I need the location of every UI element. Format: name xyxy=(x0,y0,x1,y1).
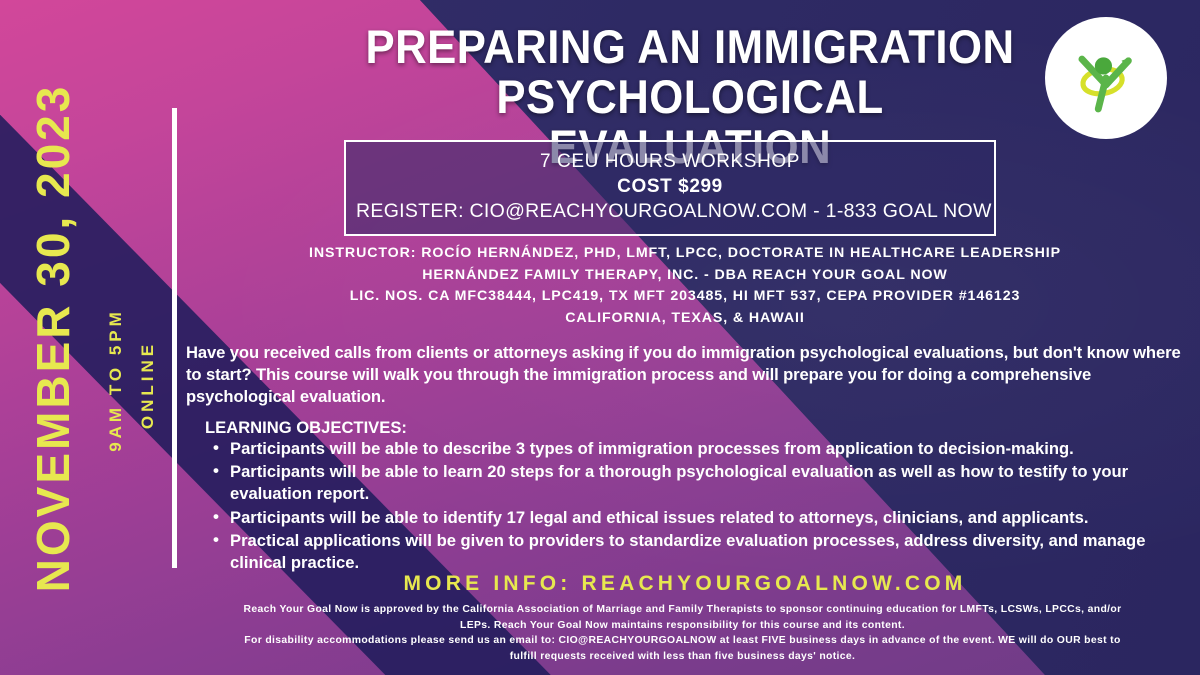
instructor-block: INSTRUCTOR: ROCÍO HERNÁNDEZ, PHD, LMFT, … xyxy=(180,243,1190,329)
instructor-practice: HERNÁNDEZ FAMILY THERAPY, INC. - DBA REA… xyxy=(180,265,1190,287)
instructor-name-credentials: INSTRUCTOR: ROCÍO HERNÁNDEZ, PHD, LMFT, … xyxy=(180,243,1190,265)
vertical-divider-line xyxy=(172,108,177,568)
event-date: NOVEMBER 30, 2023 xyxy=(26,83,80,592)
event-time: 9AM TO 5PM xyxy=(106,308,126,452)
footer-line-4: fulfill requests received with less than… xyxy=(170,649,1195,665)
footer-line-1: Reach Your Goal Now is approved by the C… xyxy=(170,602,1195,618)
list-item: Participants will be able to describe 3 … xyxy=(210,438,1186,460)
footer-line-2: LEPs. Reach Your Goal Now maintains resp… xyxy=(170,618,1195,634)
event-modality-container: ONLINE xyxy=(128,255,168,515)
registration-info-box: 7 CEU HOURS WORKSHOP COST $299 REGISTER:… xyxy=(344,140,996,236)
title-line-1: PREPARING AN IMMIGRATION xyxy=(365,22,1016,72)
left-rail: NOVEMBER 30, 2023 9AM TO 5PM ONLINE xyxy=(0,0,200,675)
footer-disclaimer: Reach Your Goal Now is approved by the C… xyxy=(170,602,1195,664)
list-item: Practical applications will be given to … xyxy=(210,530,1186,574)
register-contact-label[interactable]: REGISTER: CIO@REACHYOURGOALNOW.COM - 1-8… xyxy=(356,199,984,224)
ceu-hours-label: 7 CEU HOURS WORKSHOP xyxy=(356,150,984,175)
course-description: Have you received calls from clients or … xyxy=(186,342,1186,409)
list-item: Participants will be able to identify 17… xyxy=(210,507,1186,529)
person-star-logo-icon xyxy=(1063,35,1149,121)
event-date-container: NOVEMBER 30, 2023 xyxy=(18,0,88,675)
instructor-states: CALIFORNIA, TEXAS, & HAWAII xyxy=(180,308,1190,330)
more-info-url[interactable]: MORE INFO: REACHYOURGOALNOW.COM xyxy=(180,572,1190,596)
event-modality: ONLINE xyxy=(138,341,158,429)
brand-logo xyxy=(1045,17,1167,139)
list-item: Participants will be able to learn 20 st… xyxy=(210,461,1186,505)
learning-objectives-heading: LEARNING OBJECTIVES: xyxy=(205,418,407,438)
footer-line-3: For disability accommodations please sen… xyxy=(170,633,1195,649)
event-flyer: NOVEMBER 30, 2023 9AM TO 5PM ONLINE PREP… xyxy=(0,0,1200,675)
learning-objectives-list: Participants will be able to describe 3 … xyxy=(210,438,1186,575)
cost-label: COST $299 xyxy=(356,175,984,200)
instructor-licenses: LIC. NOS. CA MFC38444, LPC419, TX MFT 20… xyxy=(180,286,1190,308)
